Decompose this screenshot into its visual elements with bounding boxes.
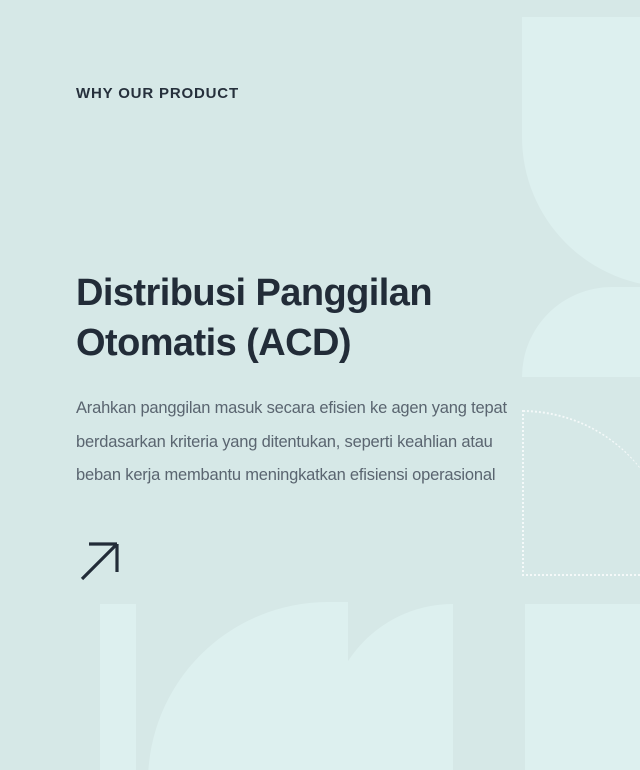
decorative-shape-top-right xyxy=(522,17,640,287)
arrow-up-right-icon[interactable] xyxy=(76,537,124,585)
section-description: Arahkan panggilan masuk secara efisien k… xyxy=(76,392,528,493)
section-eyebrow: WHY OUR PRODUCT xyxy=(76,85,239,102)
decorative-dotted-outline xyxy=(522,410,640,576)
decorative-shape-bottom-center xyxy=(148,602,348,770)
decorative-shape-bottom-band xyxy=(100,604,136,770)
decorative-background xyxy=(0,0,640,770)
page-title: Distribusi Panggilan Otomatis (ACD) xyxy=(76,268,546,368)
decorative-shape-bottom-right xyxy=(525,604,640,770)
